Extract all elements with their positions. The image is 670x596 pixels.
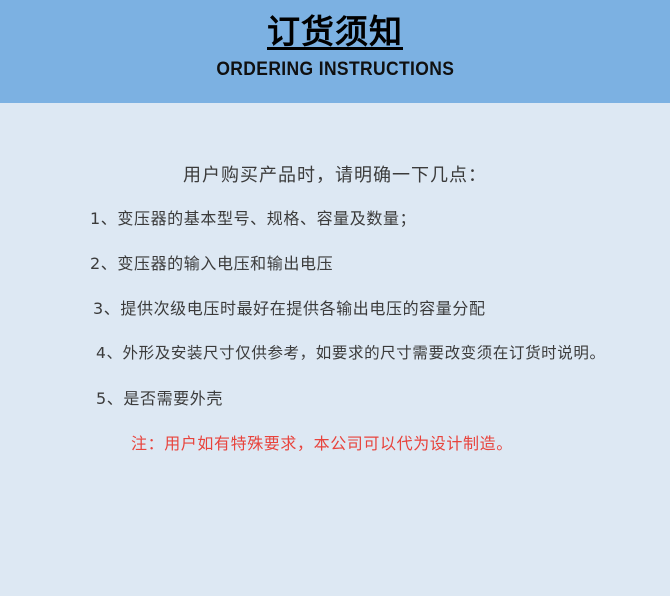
list-item: 5、是否需要外壳 (96, 391, 223, 407)
page-title-english: ORDERING INSTRUCTIONS (216, 59, 454, 81)
page-header: 订货须知 ORDERING INSTRUCTIONS (0, 0, 670, 103)
note-text: 注：用户如有特殊要求，本公司可以代为设计制造。 (131, 436, 513, 452)
list-item: 4、外形及安装尺寸仅供参考，如要求的尺寸需要改变须在订货时说明。 (96, 346, 606, 362)
page-title-chinese: 订货须知 (267, 13, 403, 51)
ordering-instructions-page: 订货须知 ORDERING INSTRUCTIONS 用户购买产品时，请明确一下… (0, 0, 670, 596)
page-body: 用户购买产品时，请明确一下几点： 1、变压器的基本型号、规格、容量及数量； 2、… (0, 103, 670, 596)
list-item: 2、变压器的输入电压和输出电压 (90, 256, 333, 272)
intro-text: 用户购买产品时，请明确一下几点： (0, 161, 670, 187)
list-item: 3、提供次级电压时最好在提供各输出电压的容量分配 (93, 301, 486, 317)
list-item: 1、变压器的基本型号、规格、容量及数量； (90, 211, 416, 227)
